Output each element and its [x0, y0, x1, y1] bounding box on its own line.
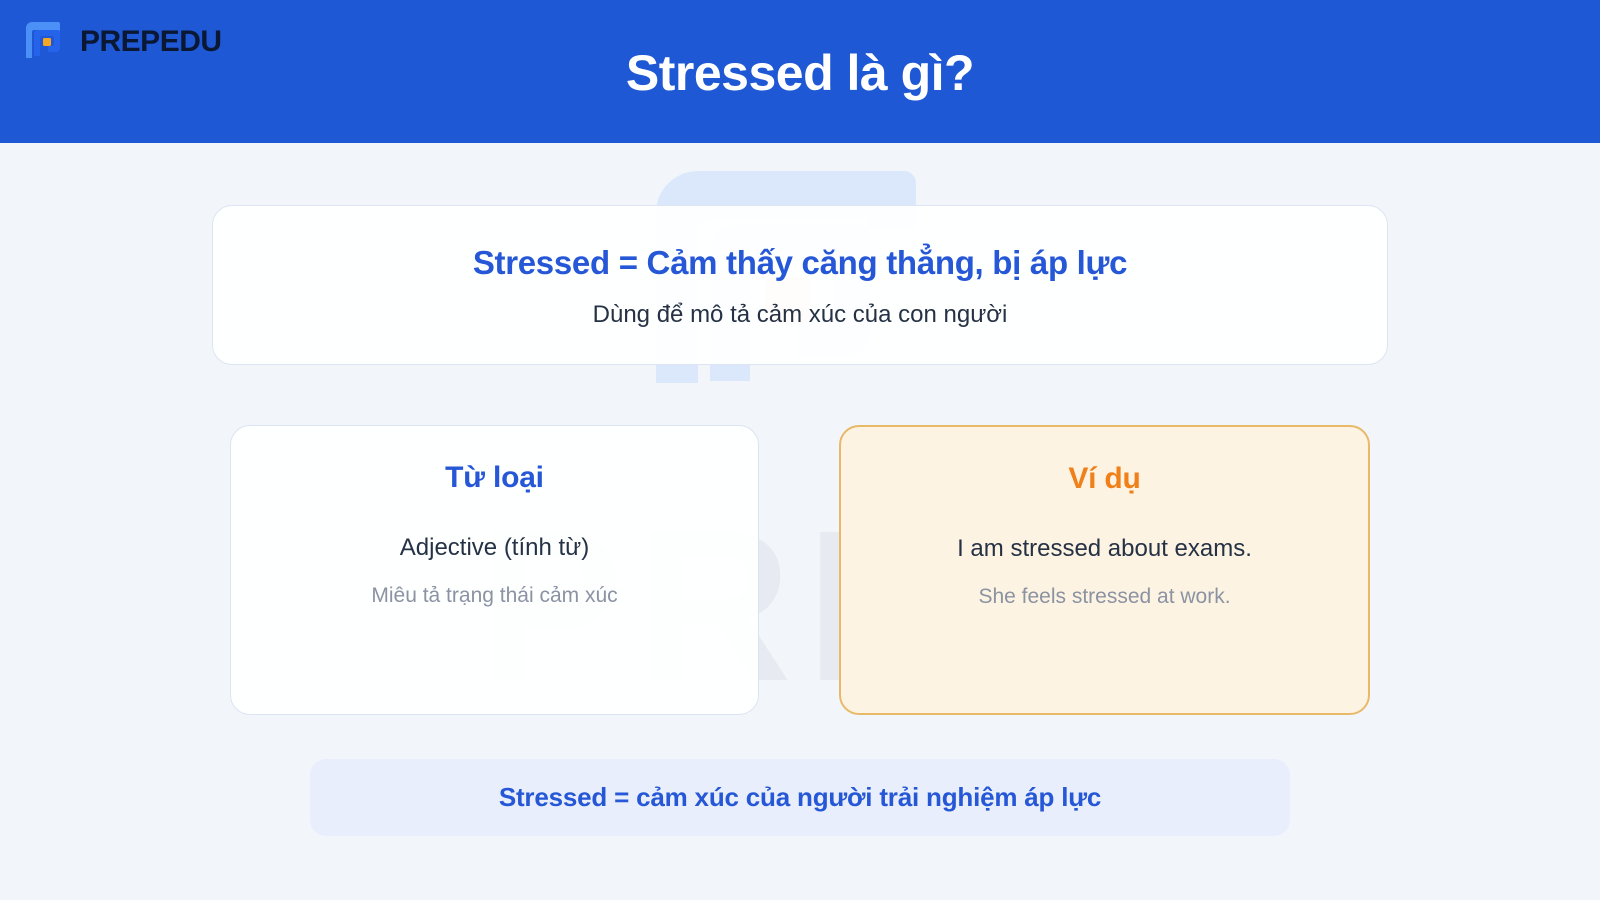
- word-type-card: Từ loại Adjective (tính từ) Miêu tả trạn…: [230, 425, 759, 715]
- example-secondary: She feels stressed at work.: [865, 583, 1344, 611]
- page-title: Stressed là gì?: [0, 42, 1600, 101]
- definition-subtext: Dùng để mô tả cảm xúc của con người: [253, 299, 1347, 330]
- word-type-primary: Adjective (tính từ): [255, 532, 734, 564]
- definition-card: Stressed = Cảm thấy căng thẳng, bị áp lự…: [212, 205, 1388, 365]
- word-type-secondary: Miêu tả trạng thái cảm xúc: [255, 582, 734, 610]
- example-heading: Ví dụ: [865, 461, 1344, 497]
- definition-headline: Stressed = Cảm thấy căng thẳng, bị áp lự…: [253, 242, 1347, 283]
- summary-text: Stressed = cảm xúc của người trải nghiệm…: [330, 781, 1270, 814]
- example-primary: I am stressed about exams.: [865, 533, 1344, 565]
- main-content: Stressed = Cảm thấy căng thẳng, bị áp lự…: [0, 143, 1600, 900]
- detail-columns: Từ loại Adjective (tính từ) Miêu tả trạn…: [230, 425, 1370, 715]
- page-header: PREPEDU Stressed là gì?: [0, 0, 1600, 143]
- brand-logo[interactable]: PREPEDU: [24, 20, 222, 64]
- prep-logo-mark-icon: [24, 20, 68, 64]
- brand-wordmark: PREPEDU: [80, 27, 222, 57]
- summary-banner: Stressed = cảm xúc của người trải nghiệm…: [310, 759, 1290, 836]
- word-type-heading: Từ loại: [255, 460, 734, 496]
- example-card: Ví dụ I am stressed about exams. She fee…: [839, 425, 1370, 715]
